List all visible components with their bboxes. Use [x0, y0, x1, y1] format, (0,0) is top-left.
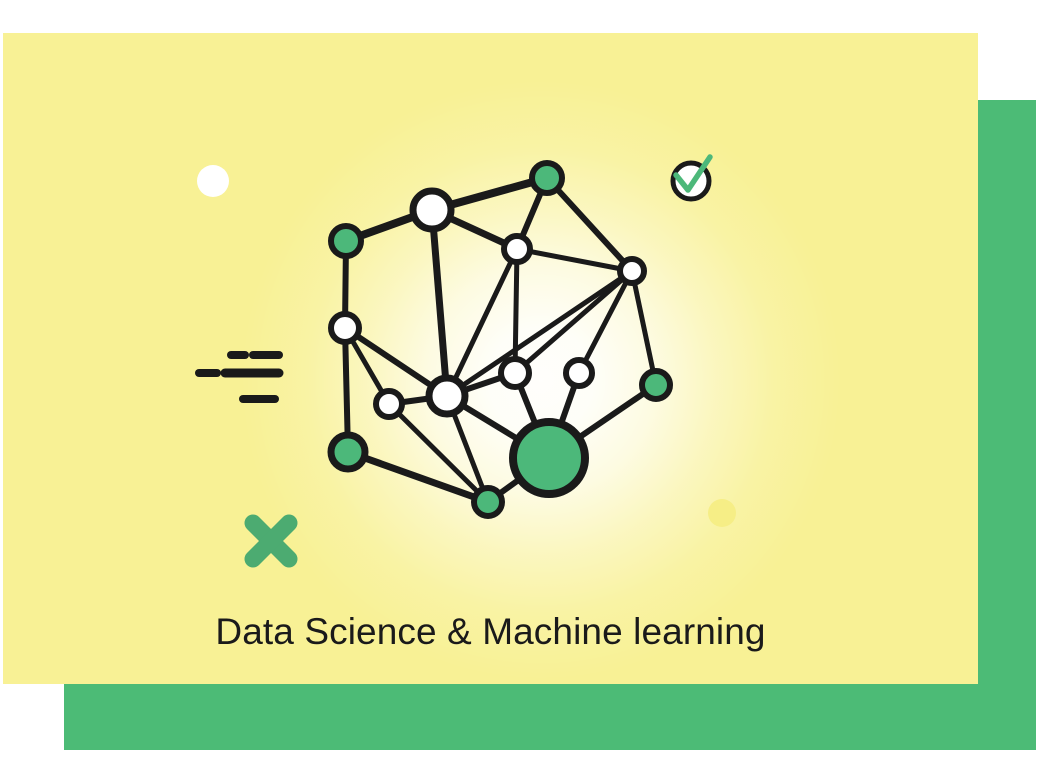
- graph-node-node-upper-left-white: [413, 191, 451, 229]
- graph-edge: [432, 210, 447, 396]
- graph-node-node-bottom-green: [474, 488, 502, 516]
- graph-node-node-large-green: [513, 422, 585, 494]
- graph-node-node-right-green: [642, 371, 670, 399]
- network-graph: [3, 33, 978, 684]
- graph-node-node-top-green: [532, 163, 562, 193]
- graph-node-node-right-white: [620, 259, 644, 283]
- graph-node-node-bottom-left-green: [331, 435, 365, 469]
- foreground-card-yellow: Data Science & Machine learning: [3, 33, 978, 684]
- edge-layer: [345, 178, 656, 502]
- graph-edge: [515, 271, 632, 373]
- page-title: Data Science & Machine learning: [3, 611, 978, 653]
- graph-edge: [348, 452, 488, 502]
- graph-node-node-mid-center-white: [501, 359, 529, 387]
- graph-node-node-center-top-white: [504, 236, 530, 262]
- illustration-stage: Data Science & Machine learning: [0, 0, 1039, 779]
- graph-node-node-left-green: [331, 226, 361, 256]
- graph-node-node-mid-left-white: [331, 314, 359, 342]
- graph-node-node-lower-left-white: [376, 391, 402, 417]
- graph-node-node-hub-white: [429, 378, 465, 414]
- graph-edge: [632, 271, 656, 385]
- graph-node-node-mid-right-white: [566, 360, 592, 386]
- graph-edge: [515, 249, 517, 373]
